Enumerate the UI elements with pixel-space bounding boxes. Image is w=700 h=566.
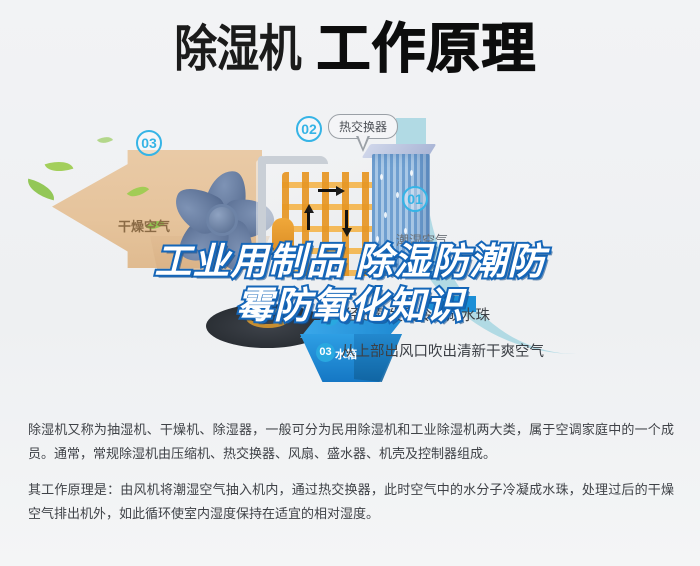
step-text-3: 从上部出风口吹出清新干爽空气: [341, 344, 544, 360]
badge-02: 02: [296, 116, 322, 142]
illustration-stage: 水箱 01 02 03 潮湿空气 干燥空气 热交换器 02经过蒸发器冷凝成水珠 …: [0, 108, 700, 400]
water-droplet-icon: [390, 248, 393, 254]
article-paragraph-1: 除湿机又称为抽湿机、干燥机、除湿器，一般可分为民用除湿机和工业除湿机两大类，属于…: [28, 418, 674, 466]
water-droplet-icon: [410, 170, 413, 176]
page-title-part1: 除湿机: [174, 24, 300, 74]
step-line-3: 03从上部出风口吹出清新干爽空气: [316, 340, 544, 362]
water-droplet-icon: [376, 236, 379, 242]
compressor-icon: [272, 218, 294, 256]
flow-arrow-stem: [318, 189, 336, 192]
infographic-page: 除湿机工作原理: [0, 0, 700, 566]
caption-humid-air: 潮湿空气: [396, 230, 448, 249]
machine-base-ring: [246, 308, 290, 328]
water-droplet-icon: [380, 174, 383, 180]
page-title-part2: 工作原理: [317, 22, 537, 76]
flow-arrow-down-icon: [342, 228, 352, 237]
water-droplet-icon: [396, 192, 399, 198]
leaf-icon: [97, 133, 113, 147]
flow-arrow-right-icon: [336, 186, 345, 196]
condenser-coil: [282, 172, 378, 276]
leaf-icon: [45, 156, 74, 176]
badge-03: 03: [136, 130, 162, 156]
caption-dry-air: 干燥空气: [118, 216, 170, 235]
article-body: 除湿机又称为抽湿机、干燥机、除湿器，一般可分为民用除湿机和工业除湿机两大类，属于…: [28, 418, 674, 526]
callout-pointer-icon: [356, 136, 370, 152]
page-title: 除湿机工作原理: [0, 22, 700, 76]
evaporator-fins: [372, 154, 430, 276]
water-droplet-icon: [384, 212, 387, 218]
step-badge-02: 02: [320, 307, 339, 326]
flow-arrow-stem: [307, 212, 310, 230]
refrigerant-pipe: [258, 156, 266, 260]
flow-arrow-stem: [345, 210, 348, 228]
step-badge-03: 03: [316, 343, 335, 362]
badge-01: 01: [402, 186, 428, 212]
leaf-icon: [25, 179, 58, 201]
refrigerant-pipe: [258, 156, 328, 164]
step-line-2: 02经过蒸发器冷凝成水珠: [320, 304, 490, 326]
step-text-2: 经过蒸发器冷凝成水珠: [345, 308, 490, 324]
article-paragraph-2: 其工作原理是：由风机将潮湿空气抽入机内，通过热交换器，此时空气中的水分子冷凝成水…: [28, 478, 674, 526]
